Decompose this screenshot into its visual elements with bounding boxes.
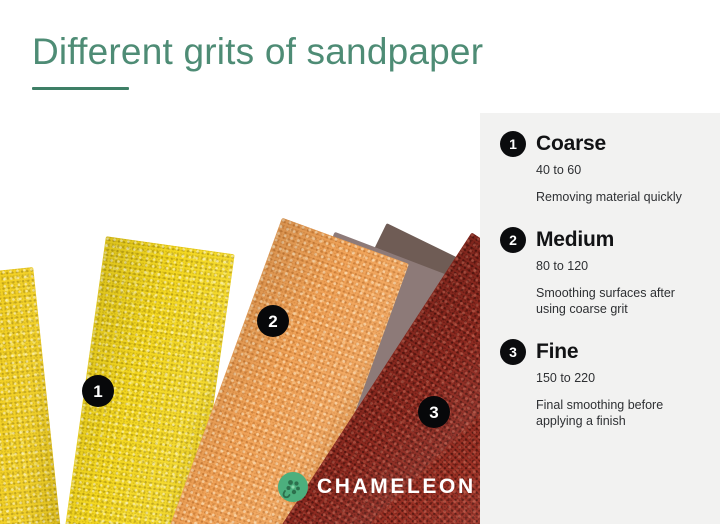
grit-description-3: Final smoothing before applying a finish	[536, 397, 700, 430]
sheet-shading	[0, 267, 68, 524]
title-block: Different grits of sandpaper	[32, 30, 552, 90]
title-underline-rule	[32, 87, 129, 90]
photo-badge-1: 1	[82, 375, 114, 407]
grit-title-2: Medium	[536, 228, 614, 252]
photo-badge-2: 2	[257, 305, 289, 337]
grit-title-3: Fine	[536, 340, 578, 364]
chameleon-logo: CHAMELEON	[278, 472, 476, 502]
grit-item-header: 3 Fine	[500, 339, 700, 365]
chameleon-wordmark: CHAMELEON	[317, 475, 476, 499]
grit-legend-panel: 1 Coarse 40 to 60 Removing material quic…	[480, 113, 720, 524]
grit-item-header: 1 Coarse	[500, 131, 700, 157]
infographic-canvas: Different grits of sandpaper	[0, 0, 720, 524]
grit-description-1: Removing material quickly	[536, 189, 700, 206]
chameleon-mark-icon	[278, 472, 308, 502]
grit-description-2: Smoothing surfaces after using coarse gr…	[536, 285, 700, 318]
grit-item-medium: 2 Medium 80 to 120 Smoothing surfaces af…	[500, 227, 700, 318]
grit-item-header: 2 Medium	[500, 227, 700, 253]
page-title: Different grits of sandpaper	[32, 30, 552, 74]
grit-number-badge-2: 2	[500, 227, 526, 253]
grit-item-fine: 3 Fine 150 to 220 Final smoothing before…	[500, 339, 700, 430]
sandpaper-photo	[0, 112, 480, 524]
grit-range-2: 80 to 120	[536, 259, 700, 273]
grit-range-3: 150 to 220	[536, 371, 700, 385]
grit-range-1: 40 to 60	[536, 163, 700, 177]
grit-number-badge-3: 3	[500, 339, 526, 365]
photo-badge-3: 3	[418, 396, 450, 428]
grit-title-1: Coarse	[536, 132, 606, 156]
grit-number-badge-1: 1	[500, 131, 526, 157]
grit-item-coarse: 1 Coarse 40 to 60 Removing material quic…	[500, 131, 700, 206]
sandpaper-sheet-yellow-outer	[0, 267, 68, 524]
